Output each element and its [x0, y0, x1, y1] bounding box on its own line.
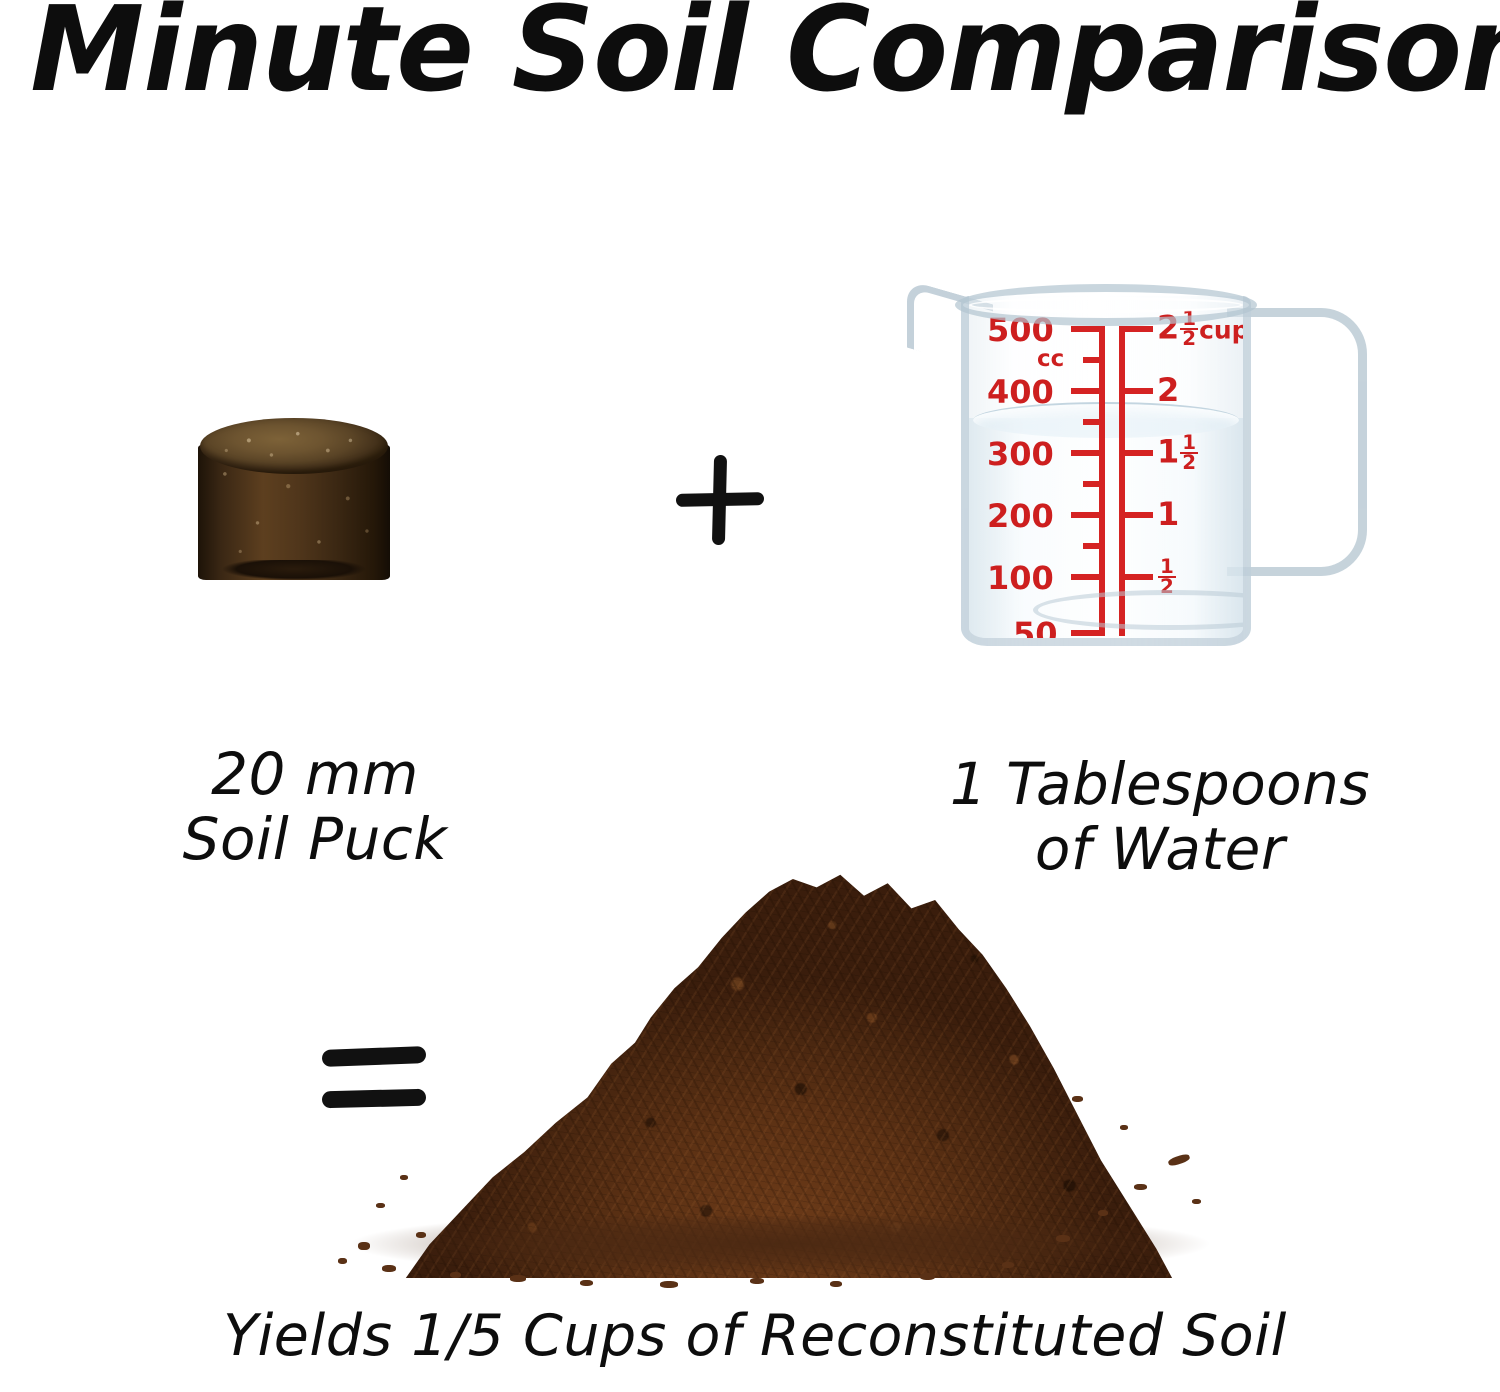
soil-puck-image	[198, 418, 390, 590]
metric-label-50: 50	[1013, 618, 1058, 646]
plus-operator-label: +	[672, 452, 673, 453]
metric-label-400: 400	[987, 376, 1054, 408]
metric-tick-200	[1071, 512, 1105, 518]
metric-minor-tick-350	[1083, 419, 1105, 425]
metric-tick-400	[1071, 388, 1105, 394]
soil-scatter-particle	[1134, 1184, 1147, 1190]
metric-label-300: 300	[987, 438, 1054, 470]
metric-label-200: 200	[987, 500, 1054, 532]
soil-scatter-particle	[338, 1258, 347, 1264]
metric-minor-tick-150	[1083, 543, 1105, 549]
page-title: Minute Soil Comparison	[30, 0, 1469, 108]
soil-base-spread	[330, 1216, 1230, 1286]
soil-scatter-particle	[400, 1175, 408, 1180]
cup-tick-0-5	[1119, 574, 1153, 580]
metric-tick-50	[1071, 630, 1105, 636]
soil-scatter-particle	[376, 1203, 385, 1208]
soil-scatter-particle	[1098, 1210, 1108, 1216]
cup-label-2: 2	[1157, 374, 1179, 406]
soil-scatter-particle	[1002, 1262, 1014, 1268]
plus-vertical-stroke	[712, 455, 727, 545]
metric-label-100: 100	[987, 562, 1054, 594]
cup-tick-1-5	[1119, 450, 1153, 456]
cup-tick-2-5	[1119, 326, 1153, 332]
cup-tick-2	[1119, 388, 1153, 394]
yield-caption: Yields 1/5 Cups of Reconstituted Soil	[60, 1305, 1450, 1369]
cup-label-1: 1	[1157, 498, 1179, 530]
metric-tick-100	[1071, 574, 1105, 580]
metric-minor-tick-450	[1083, 357, 1105, 363]
cup-tick-1	[1119, 512, 1153, 518]
puck-top-surface	[200, 418, 388, 474]
soil-scatter-particle	[358, 1242, 370, 1250]
soil-scatter-particle	[1072, 1096, 1083, 1102]
soil-scatter-particle	[450, 1272, 461, 1278]
soil-scatter-particle	[1120, 1125, 1128, 1130]
cup-body: 500 cc 400 300 200 100 50 212cup 2	[961, 296, 1251, 646]
soil-scatter-particle	[1192, 1199, 1201, 1204]
soil-scatter-particle	[416, 1232, 426, 1238]
soil-scatter-particle	[510, 1275, 526, 1282]
soil-scatter-particle	[830, 1281, 842, 1287]
soil-scatter-particle	[750, 1278, 764, 1284]
metric-unit-cc: cc	[1037, 346, 1064, 372]
cup-scale-rail	[1119, 326, 1125, 636]
soil-scatter-particle	[580, 1280, 593, 1286]
cup-label-1-5-fraction: 12	[1180, 434, 1198, 473]
cup-label-1-5-whole: 1	[1157, 432, 1179, 470]
measuring-cup-image: 500 cc 400 300 200 100 50 212cup 2	[905, 272, 1375, 672]
reconstituted-soil-pile-image	[330, 858, 1230, 1290]
plus-operator-icon: +	[672, 452, 768, 548]
puck-caption: 20 mm Soil Puck	[80, 742, 550, 872]
cup-label-1-5: 112	[1157, 434, 1199, 473]
soil-scatter-particle	[660, 1281, 678, 1288]
soil-scatter-particle	[1056, 1235, 1070, 1242]
equals-operator-label: =	[322, 1038, 323, 1039]
metric-tick-500	[1071, 326, 1105, 332]
soil-scatter-particle	[382, 1265, 396, 1272]
soil-scatter-particle	[920, 1273, 935, 1280]
metric-tick-300	[1071, 450, 1105, 456]
soil-scatter-particle	[1167, 1153, 1190, 1167]
metric-minor-tick-250	[1083, 481, 1105, 487]
soil-mound	[390, 858, 1180, 1278]
soil-mound-fibers	[390, 858, 1180, 1278]
cup-top-rim	[955, 284, 1257, 326]
soil-comparison-infographic: Minute Soil Comparison +	[0, 0, 1500, 1392]
